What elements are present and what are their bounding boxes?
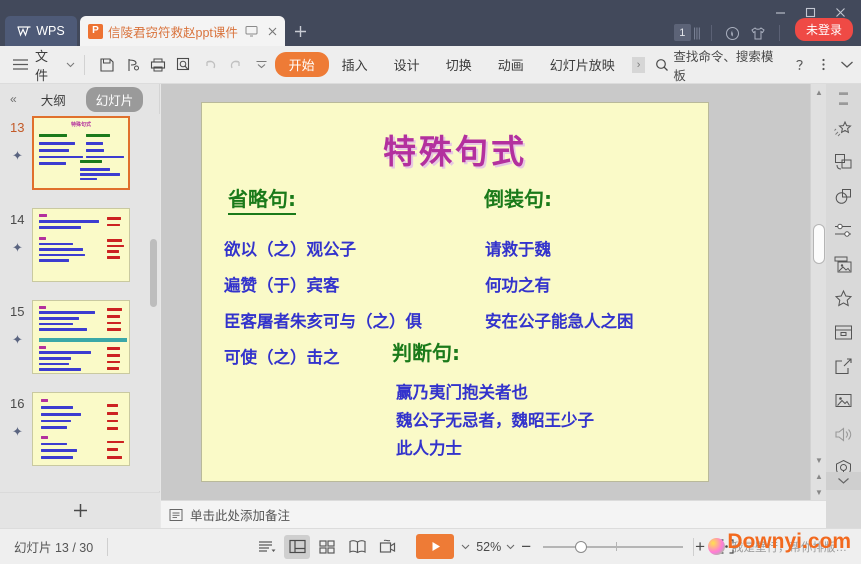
drag-handle[interactable]: ▬▬ (839, 88, 848, 108)
picture-icon[interactable] (829, 384, 859, 417)
slide-thumbnail-list[interactable]: 13 ✦ 特殊句式 (0, 114, 160, 491)
monitor-icon[interactable] (245, 25, 258, 37)
slide-thumbnail-14[interactable] (32, 208, 130, 282)
slide-thumbnail-15[interactable] (32, 300, 130, 374)
ribbon-toolbar: 文件 开始 插入 设计 切换 动画 幻灯片放映 › (0, 46, 861, 84)
divider (779, 25, 780, 41)
tab-outline[interactable]: 大纲 (31, 87, 76, 112)
notes-placeholder: 单击此处添加备注 (190, 505, 290, 524)
titlebar-right-cluster: 1 ||| 未登录 (674, 0, 861, 46)
tshirt-icon[interactable] (750, 26, 766, 41)
outline-view-icon[interactable] (254, 535, 280, 559)
wps-home-button[interactable]: WPS (5, 16, 77, 46)
zoom-default-tick (616, 542, 617, 551)
right-tool-sidebar: ▬▬ (826, 84, 861, 528)
zoom-slider-handle[interactable] (575, 541, 587, 553)
more-tabs-button[interactable]: › (632, 57, 646, 73)
body-line[interactable]: 欲以（之）观公子 (224, 236, 356, 260)
previous-slide-icon[interactable]: ▼ (811, 452, 827, 468)
archive-box-icon[interactable] (829, 316, 859, 349)
file-menu-button[interactable]: 文件 (35, 46, 61, 84)
title-bar: WPS P 信陵君窃符救赵ppt课件.ppt (0, 0, 861, 46)
save-icon[interactable] (94, 52, 120, 78)
thumb-title: 特殊句式 (34, 121, 128, 128)
zoom-out-button[interactable]: − (515, 537, 537, 557)
normal-view-icon[interactable] (284, 535, 310, 559)
window-count-badge: 1 (674, 24, 691, 41)
chevron-down-icon[interactable] (840, 60, 854, 69)
question-icon[interactable] (792, 57, 807, 72)
slideshow-options-chevron-down-icon[interactable] (461, 544, 470, 550)
collapse-panel-icon[interactable]: « (6, 92, 21, 106)
list-item[interactable]: 16 ✦ (0, 390, 160, 480)
image-frame-icon[interactable] (829, 248, 859, 281)
slide-sorter-icon[interactable] (314, 535, 340, 559)
chevron-down-icon[interactable] (66, 62, 75, 68)
body-line[interactable]: 请救于魏 (485, 236, 551, 260)
list-item[interactable]: 13 ✦ 特殊句式 (0, 114, 160, 204)
current-slide[interactable]: 特殊句式 省略句: 倒装句: 欲以（之）观公子 遍赞（于）宾客 臣客屠者朱亥可与… (201, 102, 709, 482)
scroll-up-page-icon[interactable]: ▲ (811, 468, 827, 484)
animation-star-icon: ✦ (12, 148, 23, 164)
wps-presentation-window: WPS P 信陵君窃符救赵ppt课件.ppt (0, 0, 861, 564)
undo-icon[interactable] (197, 52, 223, 78)
divider (693, 538, 694, 556)
slide-title[interactable]: 特殊句式 (202, 125, 708, 173)
slide-canvas-area: 特殊句式 省略句: 倒装句: 欲以（之）观公子 遍赞（于）宾客 臣客屠者朱亥可与… (161, 84, 826, 500)
search-input[interactable]: 查找命令、搜索模板 (655, 46, 785, 84)
ppt-file-icon: P (88, 24, 103, 39)
body-line[interactable]: 可使（之）击之 (224, 344, 340, 368)
window-count-group[interactable]: 1 ||| (674, 24, 700, 41)
list-item[interactable]: 15 ✦ (0, 298, 160, 388)
animation-star-icon: ✦ (12, 240, 23, 256)
tab-home[interactable]: 开始 (275, 52, 329, 77)
tab-slideshow[interactable]: 幻灯片放映 (537, 51, 628, 78)
scrollbar-thumb[interactable] (813, 224, 825, 264)
slide-thumbnail-13[interactable]: 特殊句式 (32, 116, 130, 190)
zoom-slider[interactable] (543, 546, 683, 548)
wps-logo-icon (17, 26, 31, 37)
shapes-icon[interactable] (829, 180, 859, 213)
section-heading-inversion[interactable]: 倒装句: (484, 183, 552, 212)
reading-view-icon[interactable] (344, 535, 370, 559)
thumbnail-scrollbar[interactable] (150, 239, 157, 307)
redo-icon[interactable] (223, 52, 249, 78)
document-tab-title: 信陵君窃符救赵ppt课件.ppt (108, 22, 238, 41)
panel-tabs: « 大纲 幻灯片 (0, 84, 159, 114)
body-line[interactable]: 赢乃夷门抱关者也 (396, 379, 528, 403)
body-line[interactable]: 何功之有 (485, 272, 551, 296)
tab-insert[interactable]: 插入 (329, 51, 381, 78)
scroll-bottom-controls: ▼ ▲ ▼ (811, 452, 827, 500)
animation-star-icon: ✦ (12, 332, 23, 348)
slide-counter: 幻灯片 13 / 30 (14, 537, 93, 556)
add-slide-button[interactable] (0, 492, 160, 528)
status-bar: 幻灯片 13 / 30 52% (0, 528, 861, 564)
find-icon[interactable] (171, 52, 197, 78)
right-panel-collapse-icon[interactable] (826, 472, 861, 490)
print-preview-icon[interactable] (120, 52, 146, 78)
flame-icon[interactable] (725, 26, 740, 41)
slide-navigator-panel: « 大纲 幻灯片 13 ✦ 特殊句式 (0, 84, 160, 528)
sparkle-star-icon[interactable] (829, 112, 859, 145)
close-icon[interactable] (266, 25, 279, 38)
divider (84, 55, 85, 75)
canvas-vertical-scrollbar[interactable]: ▲ ▼ ▲ ▼ (810, 84, 826, 500)
start-slideshow-button[interactable] (416, 534, 454, 559)
login-button[interactable]: 未登录 (795, 18, 853, 41)
list-item[interactable]: 14 ✦ (0, 206, 160, 296)
zoom-chevron-down-icon[interactable] (506, 544, 515, 550)
window-stack-icon: ||| (693, 25, 700, 40)
slide-thumbnail-16[interactable] (32, 392, 130, 466)
new-tab-button[interactable] (285, 16, 315, 46)
divider (107, 538, 108, 556)
body-line[interactable]: 遍赞（于）宾客 (224, 272, 340, 296)
scroll-up-icon[interactable]: ▲ (811, 84, 827, 100)
duplicate-shapes-icon[interactable] (829, 146, 859, 179)
next-slide-icon[interactable]: ▼ (811, 484, 827, 500)
avatar[interactable] (708, 538, 725, 555)
promo-text: 我是壁行，帮你排版… (732, 539, 847, 555)
share-export-icon[interactable] (829, 350, 859, 383)
slide-number: 16 (10, 396, 24, 411)
tab-design[interactable]: 设计 (381, 51, 433, 78)
body-line[interactable]: 魏公子无忌者，魏昭王少子 (396, 407, 594, 431)
hamburger-icon[interactable] (12, 58, 29, 71)
body-line[interactable]: 安在公子能急人之困 (485, 308, 634, 332)
notes-view-icon[interactable] (374, 535, 400, 559)
search-placeholder-text: 查找命令、搜索模板 (673, 46, 785, 84)
animation-star-icon: ✦ (12, 424, 23, 440)
adjust-sliders-icon[interactable] (829, 214, 859, 247)
print-icon[interactable] (146, 52, 172, 78)
tab-transitions[interactable]: 切换 (433, 51, 485, 78)
section-heading-judgment[interactable]: 判断句: (392, 337, 460, 366)
notes-icon (169, 508, 183, 522)
divider (711, 25, 712, 41)
notes-pane[interactable]: 单击此处添加备注 (161, 500, 826, 528)
document-tab[interactable]: P 信陵君窃符救赵ppt课件.ppt (80, 16, 285, 46)
body-line[interactable]: 臣客屠者朱亥可与（之）俱 (224, 308, 422, 332)
search-icon (655, 58, 669, 72)
section-heading-omission[interactable]: 省略句: (228, 183, 296, 215)
slide-number: 14 (10, 212, 24, 227)
tab-animations[interactable]: 动画 (485, 51, 537, 78)
favorite-star-icon[interactable] (829, 282, 859, 315)
slide-number: 13 (10, 120, 24, 135)
slide-number: 15 (10, 304, 24, 319)
zoom-level-label[interactable]: 52% (476, 540, 501, 554)
customize-icon[interactable] (249, 52, 275, 78)
wps-label: WPS (36, 24, 64, 38)
tab-slides[interactable]: 幻灯片 (86, 87, 144, 112)
kebab-icon[interactable] (821, 57, 826, 72)
statusbar-promo-area[interactable]: 我是壁行，帮你排版… (679, 529, 861, 564)
body-line[interactable]: 此人力士 (396, 435, 462, 459)
speaker-icon[interactable] (829, 418, 859, 451)
